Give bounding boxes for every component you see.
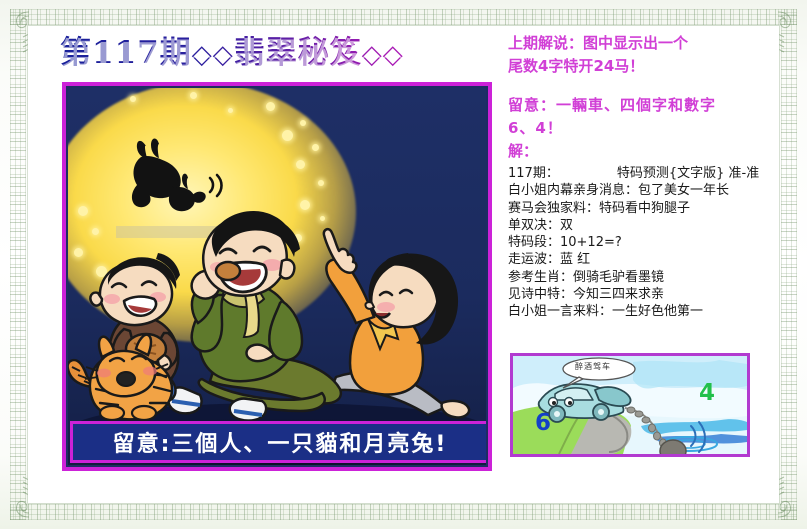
right-column: 上期解说：图中显示出一个 尾数4字特开24马！ 留意：一輛車、四個字和數字 6、… <box>508 32 788 487</box>
image-caption-text: 留意:三個人、一只貓和月亮兔! <box>113 426 448 458</box>
prev-explain-line2: 尾数4字特开24马！ <box>508 55 788 78</box>
mini-number-left: 6 <box>535 410 551 436</box>
mini-number-right: 4 <box>699 380 715 406</box>
prev-explain-line1: 上期解说：图中显示出一个 <box>508 32 788 55</box>
sparkle-icon <box>282 130 293 141</box>
sparkle-icon <box>312 144 319 151</box>
sparkle-icon <box>318 180 324 186</box>
sparkle-icon <box>300 120 306 126</box>
sparkle-icon <box>130 96 136 102</box>
girl-figure <box>324 229 469 417</box>
notice-line2: 6、4！ <box>508 117 788 140</box>
prediction-rows: 117期：特码预测{文字版} 准-准 白小姐内幕亲身消息：包了美女一年长 赛马会… <box>508 165 788 321</box>
prediction-row: 参考生肖：倒骑毛驴看墨镜 <box>508 269 788 286</box>
row-left: 117期： <box>508 166 559 181</box>
frame-band-top <box>10 9 797 25</box>
notice-line1: 留意：一輛車、四個字和數字 <box>508 94 788 117</box>
title-main: 翡翠秘笈 <box>234 35 362 71</box>
rabbit-silhouette-icon <box>128 136 246 214</box>
prediction-row: 白小姐内幕亲身消息：包了美女一年长 <box>508 182 788 199</box>
left-column: 第117期◇◇翡翠秘笈◇◇ <box>60 32 496 487</box>
prediction-row: 见诗中特：今知三四来求亲 <box>508 286 788 303</box>
row-right: 特码预测{文字版} 准-准 <box>617 166 759 181</box>
prediction-row: 赛马会独家料：特码看中狗腿子 <box>508 200 788 217</box>
bubble-text: 醉酒驾车 <box>575 361 611 372</box>
poster-root: 第117期◇◇翡翠秘笈◇◇ <box>0 0 807 529</box>
diamonds-left: ◇◇ <box>192 40 234 70</box>
frame-band-left <box>10 9 26 520</box>
mini-illustration-frame[interactable]: 醉酒驾车 6 4 <box>510 353 750 457</box>
image-caption-bar: 留意:三個人、一只貓和月亮兔! <box>70 421 486 463</box>
sparkle-icon <box>266 102 275 111</box>
diamonds-right: ◇◇ <box>362 40 404 70</box>
main-illustration: 留意:三個人、一只貓和月亮兔! <box>68 88 486 465</box>
spacer <box>508 78 788 94</box>
main-illustration-frame[interactable]: 留意:三個人、一只貓和月亮兔! <box>62 82 492 471</box>
sparkle-icon <box>190 92 197 99</box>
solve-label: 解： <box>508 140 788 162</box>
man-figure <box>168 211 341 421</box>
prediction-row: 走运波：蓝 红 <box>508 251 788 268</box>
sparkle-icon <box>296 160 305 169</box>
issue-number: 117 <box>92 35 160 71</box>
prediction-row: 特码段：10+12=? <box>508 234 788 251</box>
sparkle-icon <box>228 108 233 113</box>
prediction-row: 白小姐一言来料：一生好色他第一 <box>508 303 788 320</box>
title-prefix: 第 <box>60 35 92 71</box>
characters-illustration <box>68 209 486 439</box>
prediction-row: 单双决：双 <box>508 217 788 234</box>
page-title: 第117期◇◇翡翠秘笈◇◇ <box>60 32 496 74</box>
frame-band-bottom <box>10 504 797 520</box>
mini-illustration: 醉酒驾车 6 4 <box>513 356 747 454</box>
characters-group <box>68 209 486 439</box>
prediction-row: 117期：特码预测{文字版} 准-准 <box>508 165 788 182</box>
title-mid: 期 <box>160 35 192 71</box>
